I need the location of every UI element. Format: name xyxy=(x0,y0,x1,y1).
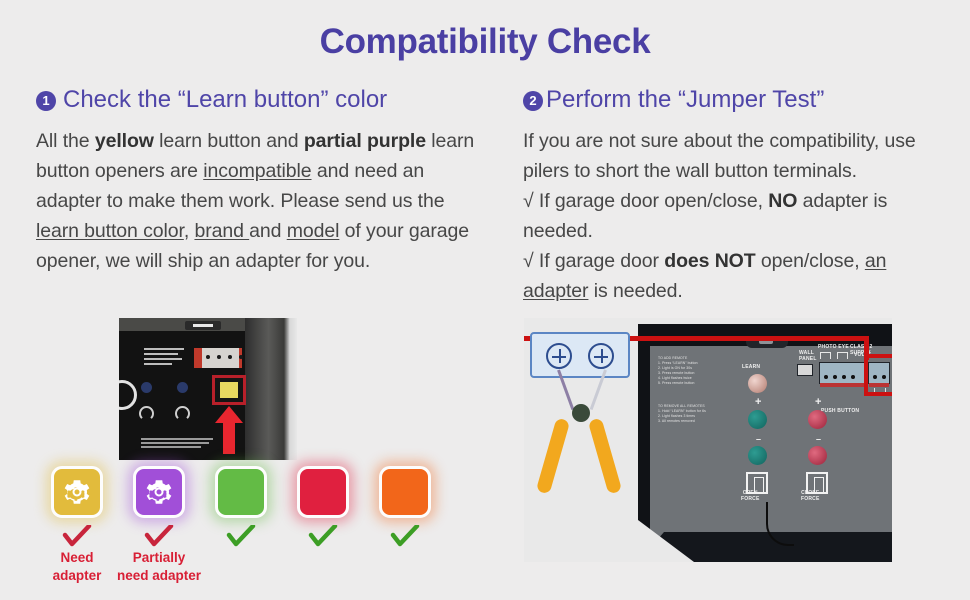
legend-label: Needadapter xyxy=(53,549,102,585)
terminal-highlight-box xyxy=(864,354,892,396)
highlight-connector-line-vertical xyxy=(864,336,869,360)
pliers-pivot xyxy=(572,404,590,422)
swatch-orange-learn-button[interactable] xyxy=(379,466,431,518)
swatch-green-learn-button[interactable] xyxy=(215,466,267,518)
label-photo-eye: PHOTO EYE xyxy=(818,344,849,350)
opener-printed-text xyxy=(144,348,186,372)
page-title: Compatibility Check xyxy=(0,22,970,62)
open-force-sign-icon xyxy=(746,472,768,494)
close-force-dial-down xyxy=(808,446,827,465)
close-force-plus-icon: + xyxy=(815,398,821,407)
wall-panel-connector xyxy=(797,364,813,376)
label-push-button: PUSH BUTTON xyxy=(821,408,859,414)
step-1-heading: 1 Check the “Learn button” color xyxy=(36,86,488,114)
pliers-handle-left xyxy=(536,418,570,495)
terminal-screw-2-icon xyxy=(588,343,614,369)
close-force-dial-up xyxy=(808,410,827,429)
gear-icon xyxy=(144,477,174,507)
main-terminal-block xyxy=(819,362,865,384)
legend-item[interactable] xyxy=(374,466,436,585)
check-mark-icon xyxy=(308,525,338,547)
legend-item[interactable] xyxy=(210,466,272,585)
legend-item[interactable]: Needadapter xyxy=(46,466,108,585)
cross-mark-icon xyxy=(144,525,174,547)
swatch-red-learn-button[interactable] xyxy=(297,466,349,518)
red-arrow-icon xyxy=(215,406,243,454)
terminal-screw-1-icon xyxy=(546,343,572,369)
photo-eye-bracket-1 xyxy=(820,352,831,359)
check-mark-icon xyxy=(390,525,420,547)
open-force-dial-up xyxy=(748,410,767,429)
label-learn: LEARN xyxy=(742,364,760,370)
step-2-heading-text: Perform the “Jumper Test” xyxy=(546,86,824,114)
panel-instructions-add: TO ADD REMOTE1. Press “LEARN” button2. L… xyxy=(658,356,726,386)
open-force-dial-down xyxy=(748,446,767,465)
gear-icon xyxy=(62,477,92,507)
close-force-minus-icon: – xyxy=(816,436,821,442)
opener-top-slot xyxy=(185,321,221,330)
jumper-test-photo: TO ADD REMOTE1. Press “LEARN” button2. L… xyxy=(524,318,892,562)
pliers-handle-right xyxy=(588,418,622,495)
cross-mark-icon xyxy=(62,525,92,547)
opener-side-handle xyxy=(245,318,297,460)
step-1-heading-text: Check the “Learn button” color xyxy=(63,86,387,114)
opener-knob-close-force xyxy=(175,406,190,421)
column-right: 2 Perform the “Jumper Test” If you are n… xyxy=(523,86,953,306)
check-mark-icon xyxy=(226,525,256,547)
swatch-purple-learn-button[interactable] xyxy=(133,466,185,518)
learn-button-dial xyxy=(748,374,767,393)
open-force-minus-icon: – xyxy=(756,436,761,442)
legend-item[interactable]: Partiallyneed adapter xyxy=(128,466,190,585)
yellow-learn-button-photo xyxy=(220,382,238,398)
opener-terminal-strip xyxy=(194,348,242,368)
legend-label: Partiallyneed adapter xyxy=(117,549,201,585)
step-2-badge: 2 xyxy=(523,91,543,111)
open-force-plus-icon: + xyxy=(755,398,761,407)
legend-item[interactable] xyxy=(292,466,354,585)
panel-instructions-remove: TO REMOVE ALL REMOTES1. Hold “LEARN” but… xyxy=(658,404,726,424)
wall-button-terminals-callout xyxy=(530,332,630,378)
step-1-paragraph: All the yellow learn button and partial … xyxy=(36,126,488,276)
garage-opener-learn-button-photo xyxy=(119,318,297,460)
close-force-sign-icon xyxy=(806,472,828,494)
step-2-paragraph: If you are not sure about the compatibil… xyxy=(523,126,953,306)
opener-knob-open-force xyxy=(139,406,154,421)
photo-eye-bracket-2 xyxy=(837,352,848,359)
column-left: 1 Check the “Learn button” color All the… xyxy=(36,86,488,276)
swatch-yellow-learn-button[interactable] xyxy=(51,466,103,518)
opener-dial-2 xyxy=(177,382,188,393)
learn-button-highlight xyxy=(212,375,246,405)
step-2-heading: 2 Perform the “Jumper Test” xyxy=(523,86,953,114)
label-wall-panel: WALLPANEL xyxy=(799,350,817,362)
opener-warning-text xyxy=(141,438,213,456)
opener-control-panel: TO ADD REMOTE1. Press “LEARN” button2. L… xyxy=(638,324,892,562)
learn-button-color-legend: Needadapter Partiallyneed adapter xyxy=(46,466,436,585)
compatibility-check-infographic: Compatibility Check 1 Check the “Learn b… xyxy=(0,0,970,600)
step-1-badge: 1 xyxy=(36,91,56,111)
opener-dial-1 xyxy=(141,382,152,393)
